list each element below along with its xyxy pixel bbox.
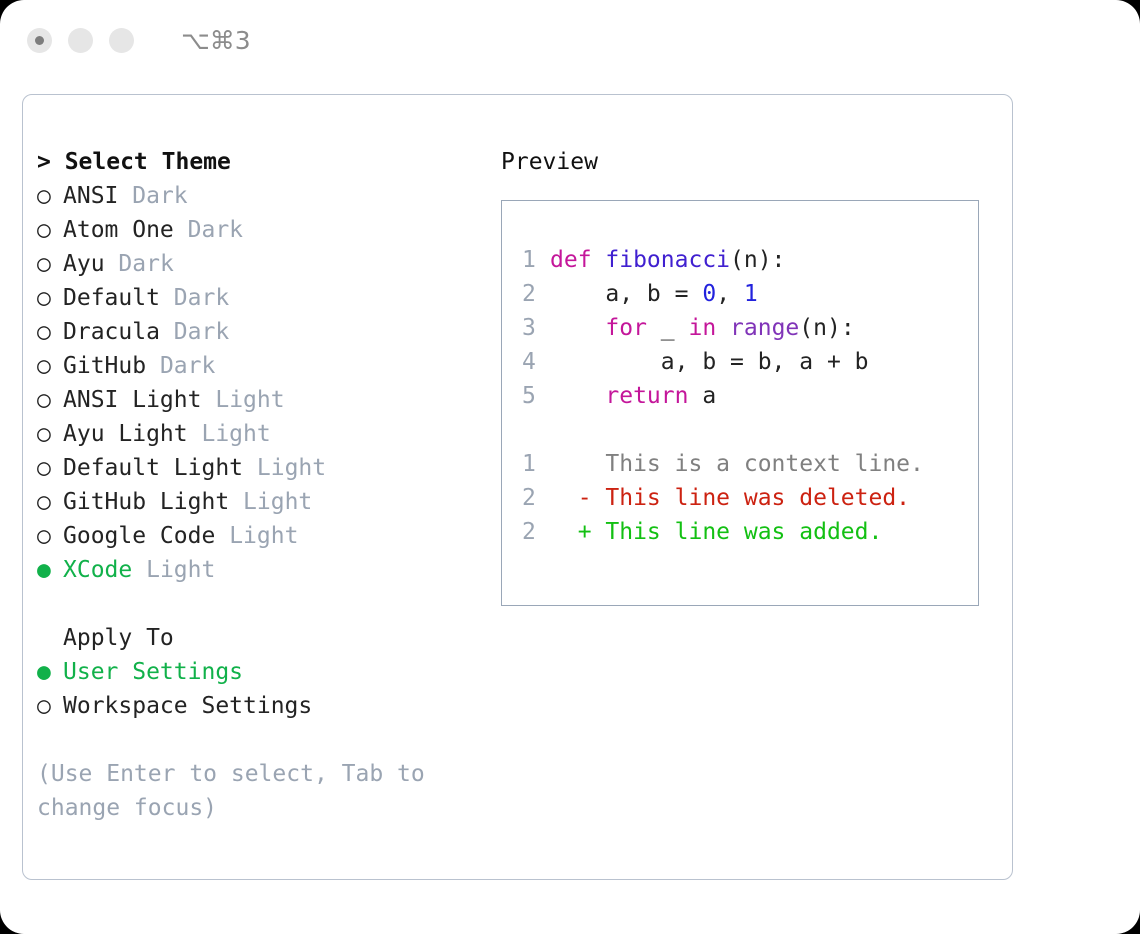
theme-option-label: Default Light [63,455,243,481]
label-tag-space [229,489,243,515]
radio-unselected-icon: ○ [37,417,63,451]
theme-option-tag: Dark [188,217,243,243]
diff-sign [550,451,605,477]
label-tag-space [188,421,202,447]
code-token [550,315,605,341]
code-token: (n): [730,247,785,273]
theme-option-label: ANSI [63,183,118,209]
theme-option-github[interactable]: ○GitHub Dark [37,349,487,383]
code-line: 3 for _ in range(n): [522,311,978,345]
label-tag-space [105,251,119,277]
radio-unselected-icon: ○ [37,349,63,383]
theme-option-label: Default [63,285,160,311]
app-window: ⌥⌘3 > Select Theme ○ANSI Dark○Atom One D… [0,0,1140,934]
code-token: in [688,315,716,341]
code-line: 2 a, b = 0, 1 [522,277,978,311]
line-number: 5 [522,379,550,413]
theme-option-label: Google Code [63,523,215,549]
code-token: a [688,383,716,409]
radio-unselected-icon: ○ [37,247,63,281]
radio-unselected-icon: ○ [37,213,63,247]
label-tag-space [243,455,257,481]
code-token: a, b = b, a + b [550,349,869,375]
radio-unselected-icon: ○ [37,485,63,519]
apply-to-option-label: Workspace Settings [63,693,312,719]
theme-option-xcode[interactable]: ●XCode Light [37,553,487,587]
apply-to-option-user-settings[interactable]: ●User Settings [37,655,487,689]
radio-selected-icon: ● [37,655,63,689]
radio-unselected-icon: ○ [37,179,63,213]
panel-columns: > Select Theme ○ANSI Dark○Atom One Dark○… [23,95,1012,879]
theme-option-dracula[interactable]: ○Dracula Dark [37,315,487,349]
theme-option-default[interactable]: ○Default Dark [37,281,487,315]
code-token: fibonacci [605,247,730,273]
theme-option-tag: Light [229,523,298,549]
diff-sign: + [550,519,605,545]
theme-option-tag: Dark [118,251,173,277]
theme-option-default-light[interactable]: ○Default Light Light [37,451,487,485]
theme-option-label: Dracula [63,319,160,345]
theme-option-google-code[interactable]: ○Google Code Light [37,519,487,553]
label-tag-space [174,217,188,243]
theme-option-tag: Light [201,421,270,447]
theme-option-ayu[interactable]: ○Ayu Dark [37,247,487,281]
code-token: for [605,315,647,341]
diff-line: 2 - This line was deleted. [522,481,978,515]
theme-option-label: Ayu [63,251,105,277]
keyboard-hint: (Use Enter to select, Tab to change focu… [37,757,457,825]
diff-line: 2 + This line was added. [522,515,978,549]
label-tag-space [146,353,160,379]
theme-option-tag: Dark [160,353,215,379]
theme-option-label: Atom One [63,217,174,243]
diff-sign: - [550,485,605,511]
theme-option-tag: Light [215,387,284,413]
line-number: 4 [522,345,550,379]
theme-option-label: Ayu Light [63,421,188,447]
apply-to-option-workspace-settings[interactable]: ○Workspace Settings [37,689,487,723]
theme-option-tag: Light [243,489,312,515]
theme-option-tag: Light [146,557,215,583]
window-dot-inner [35,36,44,45]
main-panel: > Select Theme ○ANSI Dark○Atom One Dark○… [22,94,1013,880]
code-token: 1 [744,281,758,307]
code-token: a, b = [550,281,702,307]
code-token: range [730,315,799,341]
line-number: 2 [522,277,550,311]
radio-unselected-icon: ○ [37,383,63,417]
theme-option-ansi-light[interactable]: ○ANSI Light Light [37,383,487,417]
label-tag-space [160,285,174,311]
line-number: 3 [522,311,550,345]
list-spacer [37,587,487,621]
code-token: (n): [799,315,854,341]
label-tag-space [215,523,229,549]
window-dot-active-icon[interactable] [27,28,52,53]
theme-selector-column: > Select Theme ○ANSI Dark○Atom One Dark○… [37,145,487,825]
code-line: 5 return a [522,379,978,413]
diff-text: This line was added. [605,519,882,545]
theme-option-ayu-light[interactable]: ○Ayu Light Light [37,417,487,451]
diff-text: This is a context line. [605,451,924,477]
label-tag-space [132,557,146,583]
code-token [550,383,605,409]
theme-option-github-light[interactable]: ○GitHub Light Light [37,485,487,519]
diff-block: 1 This is a context line.2 - This line w… [522,447,978,549]
theme-option-atom-one[interactable]: ○Atom One Dark [37,213,487,247]
radio-unselected-icon: ○ [37,315,63,349]
preview-box: 1def fibonacci(n):2 a, b = 0, 13 for _ i… [501,200,979,606]
line-number: 1 [522,447,550,481]
window-dot-second-icon[interactable] [68,28,93,53]
line-number: 1 [522,243,550,277]
window-controls [27,28,134,53]
label-tag-space [160,319,174,345]
title-bar: ⌥⌘3 [0,0,1140,80]
select-theme-heading: > Select Theme [37,145,487,179]
theme-list: ○ANSI Dark○Atom One Dark○Ayu Dark○Defaul… [37,179,487,587]
diff-line: 1 This is a context line. [522,447,978,481]
code-token: return [605,383,688,409]
theme-option-label: XCode [63,557,132,583]
line-number: 2 [522,515,550,549]
theme-option-label: GitHub [63,353,146,379]
theme-option-tag: Dark [174,285,229,311]
code-line: 4 a, b = b, a + b [522,345,978,379]
theme-option-tag: Light [257,455,326,481]
label-tag-space [201,387,215,413]
theme-option-ansi[interactable]: ○ANSI Dark [37,179,487,213]
apply-to-option-label: User Settings [63,659,243,685]
window-dot-third-icon[interactable] [109,28,134,53]
code-block: 1def fibonacci(n):2 a, b = 0, 13 for _ i… [522,243,978,413]
theme-option-tag: Dark [132,183,187,209]
code-token [716,315,730,341]
theme-option-tag: Dark [174,319,229,345]
theme-option-label: ANSI Light [63,387,201,413]
diff-text: This line was deleted. [605,485,910,511]
radio-unselected-icon: ○ [37,689,63,723]
theme-option-label: GitHub Light [63,489,229,515]
code-token: , [716,281,744,307]
preview-heading: Preview [501,145,1001,179]
code-preview-area: 1def fibonacci(n):2 a, b = 0, 13 for _ i… [522,243,978,549]
apply-to-list: ●User Settings○Workspace Settings [37,655,487,723]
keyboard-shortcut-label: ⌥⌘3 [181,28,251,53]
apply-to-heading: Apply To [37,621,487,655]
line-number: 2 [522,481,550,515]
radio-unselected-icon: ○ [37,451,63,485]
preview-column: Preview 1def fibonacci(n):2 a, b = 0, 13… [501,145,1001,606]
code-token: _ [647,315,689,341]
label-tag-space [118,183,132,209]
code-line: 1def fibonacci(n): [522,243,978,277]
radio-unselected-icon: ○ [37,519,63,553]
code-token: def [550,247,605,273]
radio-selected-icon: ● [37,553,63,587]
code-diff-separator [522,413,978,447]
code-token: 0 [702,281,716,307]
radio-unselected-icon: ○ [37,281,63,315]
